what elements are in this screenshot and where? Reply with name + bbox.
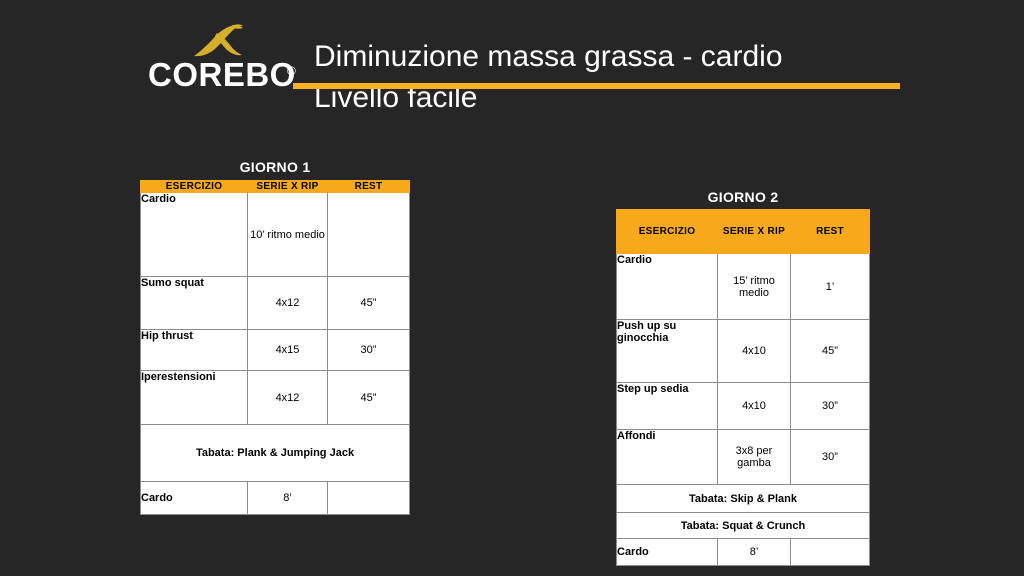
cell-series: 8’ [248,482,328,515]
cell-tabata: Tabata: Plank & Jumping Jack [141,425,410,482]
cell-exercise: Cardo [617,539,718,566]
page-title-line-1: Diminuzione massa grassa - cardio [314,36,954,77]
table-row: Push up su ginocchia 4x10 45” [617,320,870,383]
cell-rest [791,539,870,566]
cell-series: 4x10 [718,383,791,430]
table-row-tabata: Tabata: Squat & Crunch [617,513,870,539]
cell-rest: 45” [791,320,870,383]
cell-series: 10’ ritmo medio [248,193,328,277]
day-label-giorno-1: GIORNO 1 [140,159,410,175]
table-row: Sumo squat 4x12 45” [141,277,410,330]
cell-series: 3x8 per gamba [718,430,791,485]
cell-exercise: Hip thrust [141,330,248,371]
cell-series: 4x12 [248,371,328,425]
corebo-runner-icon [190,22,246,58]
cell-series: 4x12 [248,277,328,330]
cell-exercise: Affondi [617,430,718,485]
table-row: Affondi 3x8 per gamba 30” [617,430,870,485]
table-row: Step up sedia 4x10 30” [617,383,870,430]
table-header-giorno-2: ESERCIZIO SERIE X RIP REST [617,210,870,254]
table-row-tabata: Tabata: Plank & Jumping Jack [141,425,410,482]
cell-series: 8’ [718,539,791,566]
cell-rest [328,193,410,277]
cell-exercise: Cardio [617,254,718,320]
cell-exercise: Step up sedia [617,383,718,430]
column-header-esercizio: ESERCIZIO [141,181,248,193]
cell-series: 15’ ritmo medio [718,254,791,320]
cell-exercise: Cardo [141,482,248,515]
table-row-tabata: Tabata: Skip & Plank [617,485,870,513]
column-header-rest: REST [791,210,870,254]
workout-table-giorno-2: ESERCIZIO SERIE X RIP REST Cardio 15’ ri… [616,209,870,566]
cell-rest: 30” [328,330,410,371]
table-row: Cardio 10’ ritmo medio [141,193,410,277]
cell-exercise: Sumo squat [141,277,248,330]
table-row: Hip thrust 4x15 30” [141,330,410,371]
table-row: Cardo 8’ [141,482,410,515]
table-header-row: ESERCIZIO SERIE X RIP REST [141,181,410,193]
table-header-row: ESERCIZIO SERIE X RIP REST [617,210,870,254]
column-header-serie-x-rip: SERIE X RIP [718,210,791,254]
cell-rest [328,482,410,515]
title-underline-rule [293,83,900,89]
workout-table-giorno-1: ESERCIZIO SERIE X RIP REST Cardio 10’ ri… [140,180,410,515]
cell-series: 4x15 [248,330,328,371]
corebo-logo: COREBO ® [148,22,298,100]
cell-rest: 45” [328,371,410,425]
slide-header: COREBO ® Diminuzione massa grassa - card… [0,0,1024,130]
page-title: Diminuzione massa grassa - cardio Livell… [314,36,954,118]
table-row: Cardio 15’ ritmo medio 1’ [617,254,870,320]
column-header-serie-x-rip: SERIE X RIP [248,181,328,193]
cell-rest: 30” [791,430,870,485]
column-header-rest: REST [328,181,410,193]
cell-exercise: Cardio [141,193,248,277]
table-row: Iperestensioni 4x12 45” [141,371,410,425]
table-body-giorno-2: Cardio 15’ ritmo medio 1’ Push up su gin… [617,254,870,566]
cell-rest: 1’ [791,254,870,320]
cell-series: 4x10 [718,320,791,383]
cell-rest: 45” [328,277,410,330]
cell-exercise: Push up su ginocchia [617,320,718,383]
table-header-giorno-1: ESERCIZIO SERIE X RIP REST [141,181,410,193]
logo-wordmark: COREBO [148,58,296,92]
registered-trademark-symbol: ® [287,64,296,78]
day-label-giorno-2: GIORNO 2 [616,189,870,205]
column-header-esercizio: ESERCIZIO [617,210,718,254]
cell-exercise: Iperestensioni [141,371,248,425]
cell-rest: 30” [791,383,870,430]
cell-tabata: Tabata: Skip & Plank [617,485,870,513]
table-body-giorno-1: Cardio 10’ ritmo medio Sumo squat 4x12 4… [141,193,410,515]
table-row: Cardo 8’ [617,539,870,566]
cell-tabata: Tabata: Squat & Crunch [617,513,870,539]
